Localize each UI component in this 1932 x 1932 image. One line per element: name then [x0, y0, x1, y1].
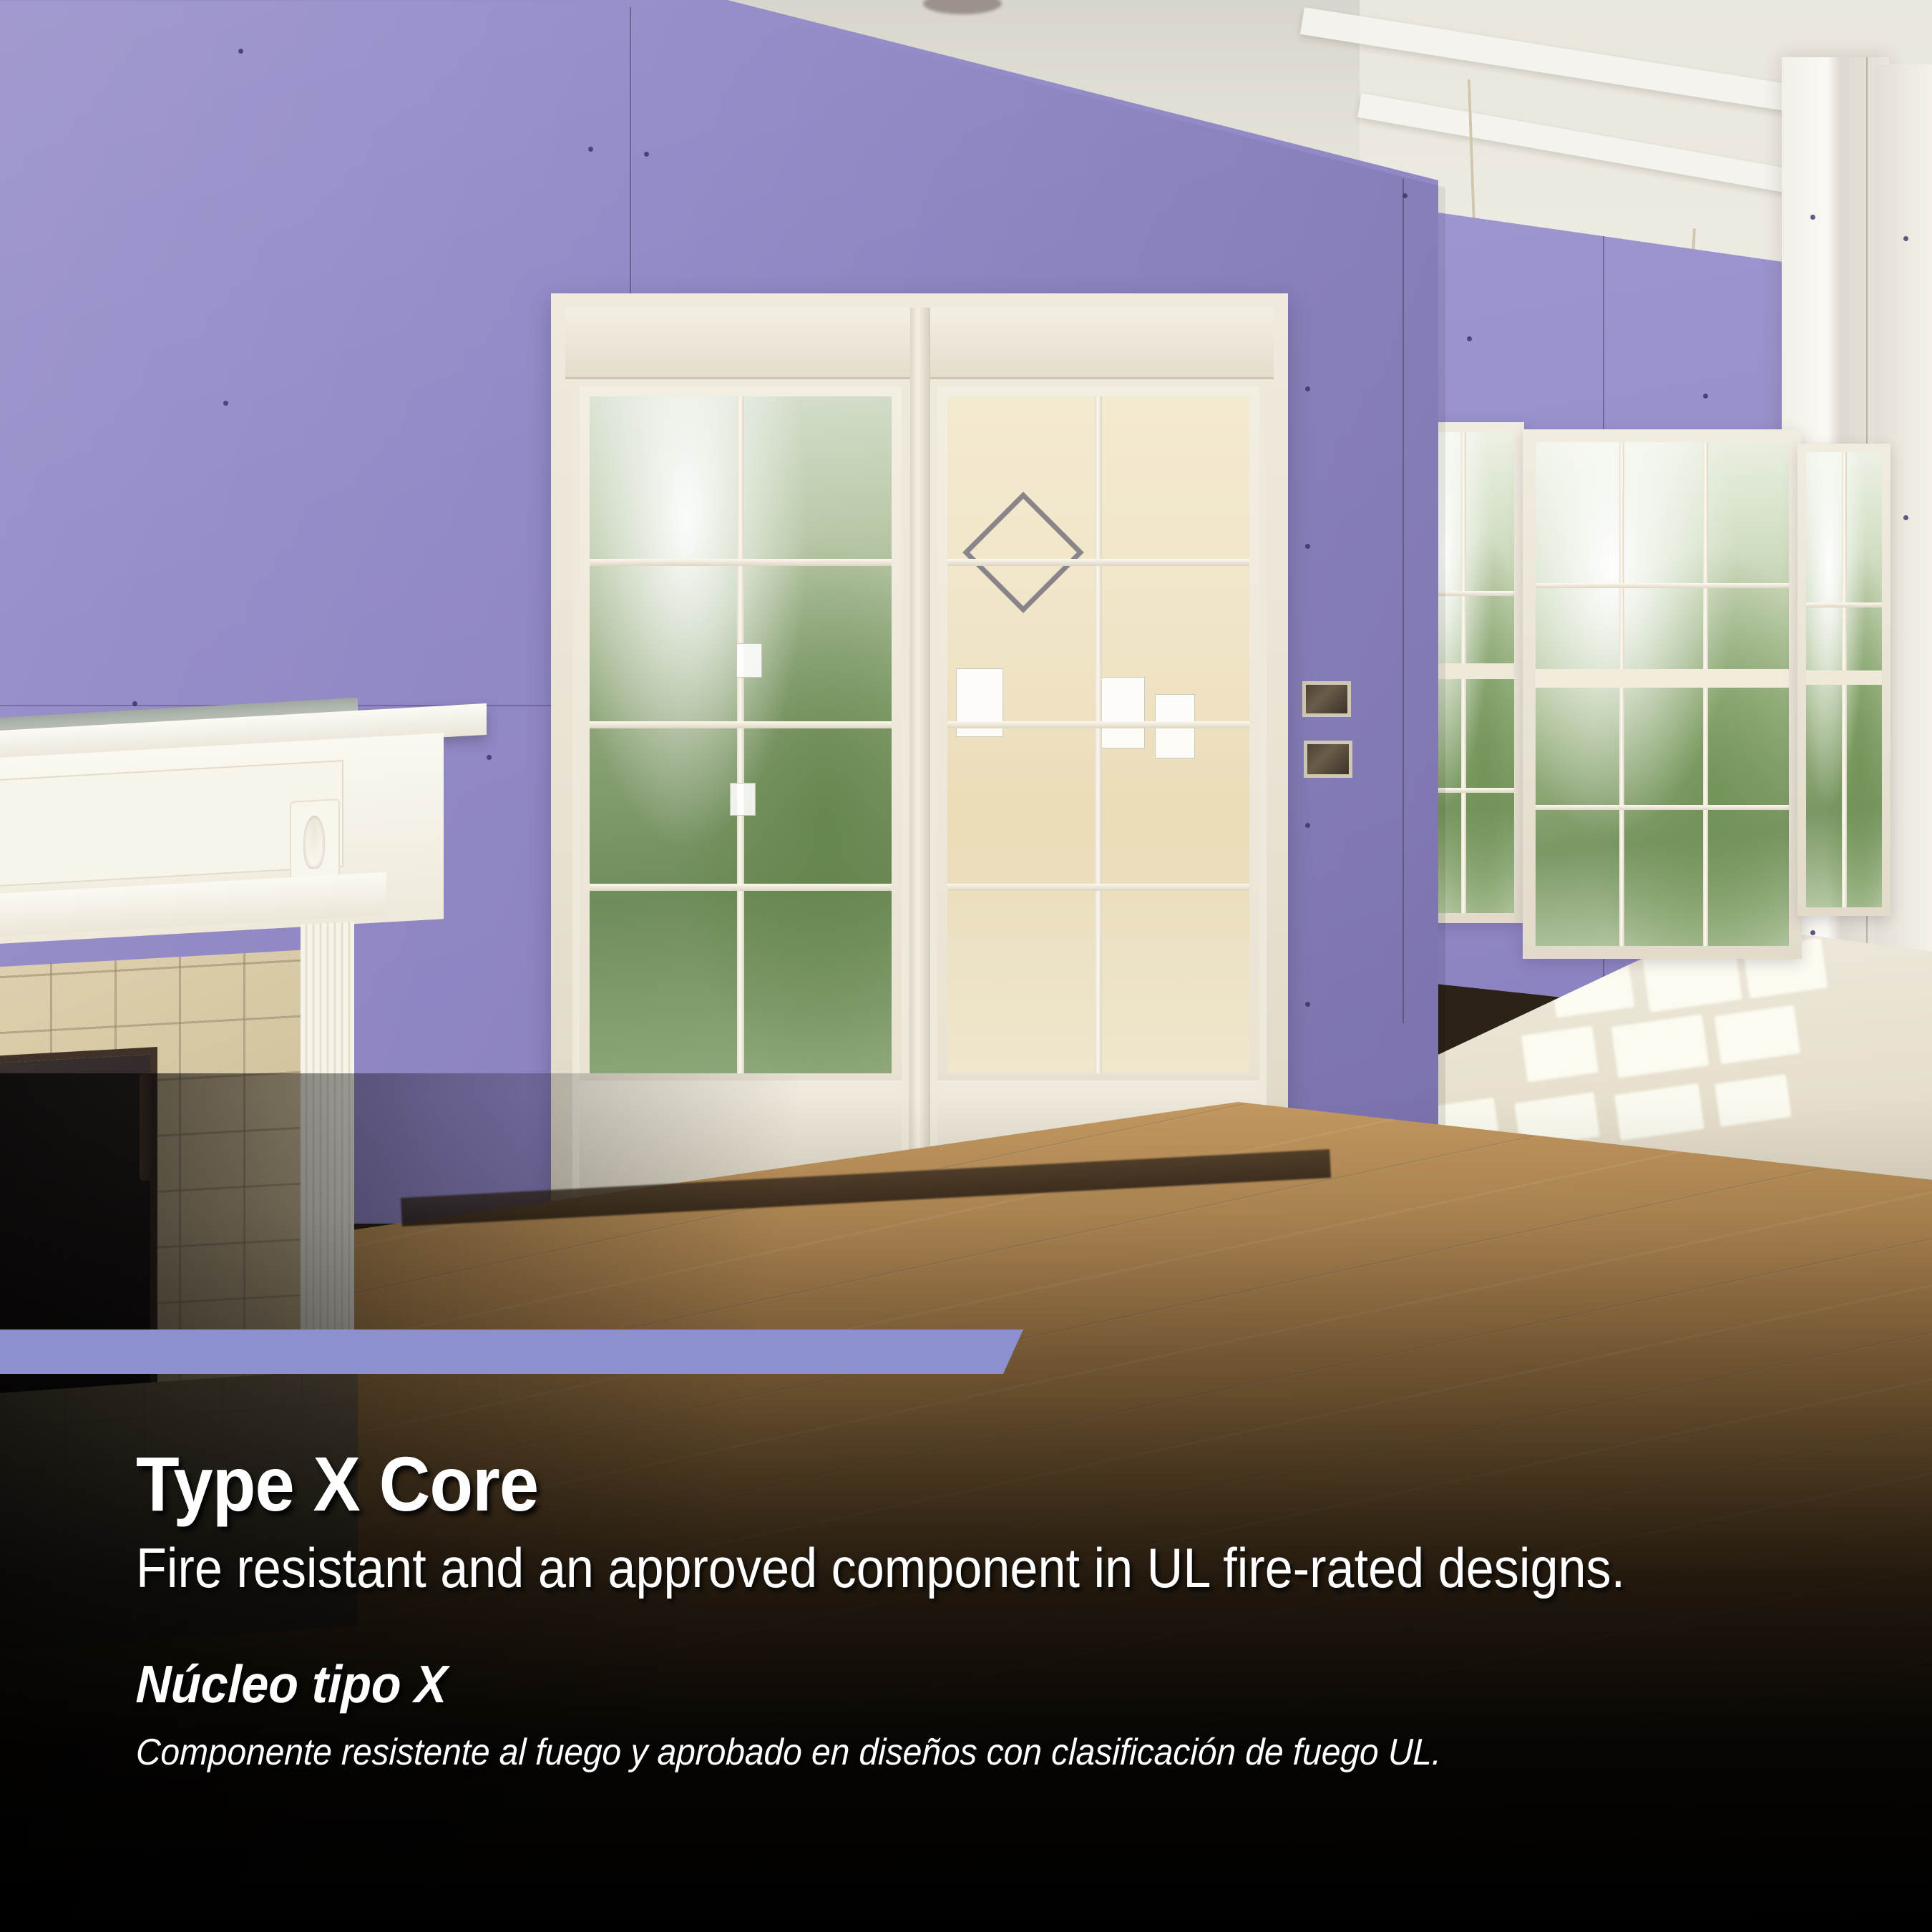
- title-spanish: Núcleo tipo X: [135, 1658, 1704, 1711]
- subtitle-spanish: Componente resistente al fuego y aprobad…: [135, 1729, 1704, 1776]
- door-muntin: [590, 559, 892, 566]
- french-door-right[interactable]: [930, 379, 1267, 1224]
- sunlight-patch: [1714, 1005, 1800, 1065]
- drywall-seam: [1402, 179, 1404, 1023]
- drywall-screw: [1903, 515, 1908, 520]
- sunlight-patch: [1614, 1083, 1704, 1141]
- drywall-screw: [1305, 386, 1310, 391]
- mantel-fluted-pilaster: [301, 922, 354, 1382]
- window-muntin: [1536, 583, 1789, 588]
- fireplace-screen-handle: [140, 1073, 155, 1181]
- door-muntin: [590, 721, 892, 728]
- door-muntin: [590, 884, 892, 891]
- drywall-screw: [1305, 1002, 1310, 1007]
- window-muntin: [1619, 442, 1624, 946]
- window-center-wide: [1523, 429, 1802, 959]
- window-sticker: [736, 643, 762, 678]
- door-muntin: [1095, 396, 1102, 1073]
- window-muntin: [1806, 602, 1882, 608]
- french-door-left[interactable]: [572, 379, 909, 1224]
- accent-bar: [0, 1330, 1023, 1374]
- drywall-screw: [1305, 544, 1310, 549]
- window-sash-rail: [1806, 670, 1882, 685]
- sunlight-patch: [1714, 1074, 1791, 1126]
- door-muntin: [947, 559, 1249, 566]
- drywall-screw: [588, 147, 593, 152]
- door-muntin-grid: [590, 396, 892, 1073]
- door-muntin: [737, 396, 744, 1073]
- door-muntin: [947, 721, 1249, 728]
- sunlight-patch: [1521, 1025, 1599, 1082]
- drywall-screw: [132, 701, 137, 706]
- window-muntin: [1536, 805, 1789, 810]
- drywall-screw: [1703, 394, 1708, 399]
- drywall-screw: [1305, 823, 1310, 828]
- electrical-box-cutout-upper: [1302, 681, 1351, 717]
- drywall-screw: [238, 49, 243, 54]
- door-glass-right: [947, 396, 1249, 1073]
- drywall-screw: [1903, 236, 1908, 241]
- drywall-screw: [644, 152, 649, 157]
- drywall-screw: [1810, 215, 1815, 220]
- drywall-screw: [223, 401, 228, 406]
- product-photo-card: Type X Core Fire resistant and an approv…: [0, 0, 1932, 1932]
- door-center-mullion: [910, 308, 930, 1231]
- window-glass: [1536, 442, 1789, 946]
- electrical-box-cutout-lower: [1304, 741, 1352, 778]
- subtitle-english: Fire resistant and an approved component…: [136, 1534, 1669, 1602]
- window-muntin: [1703, 442, 1708, 946]
- door-muntin-grid: [947, 396, 1249, 1073]
- drywall-screw: [1402, 193, 1407, 198]
- drywall-screw: [1467, 336, 1472, 341]
- caption-block: Type X Core Fire resistant and an approv…: [136, 1445, 1839, 1776]
- drywall-screw: [487, 755, 492, 760]
- door-muntin: [947, 884, 1249, 891]
- sunlight-patch: [1611, 1014, 1709, 1078]
- title-english: Type X Core: [136, 1445, 1703, 1523]
- window-sash-rail: [1536, 669, 1789, 688]
- window-sticker: [730, 783, 756, 816]
- drywall-screw: [1810, 930, 1815, 935]
- window-right-narrow: [1797, 444, 1890, 916]
- door-glass-left: [590, 396, 892, 1073]
- window-glass: [1806, 452, 1882, 907]
- fleur-de-lis-ornament-icon: [303, 815, 325, 869]
